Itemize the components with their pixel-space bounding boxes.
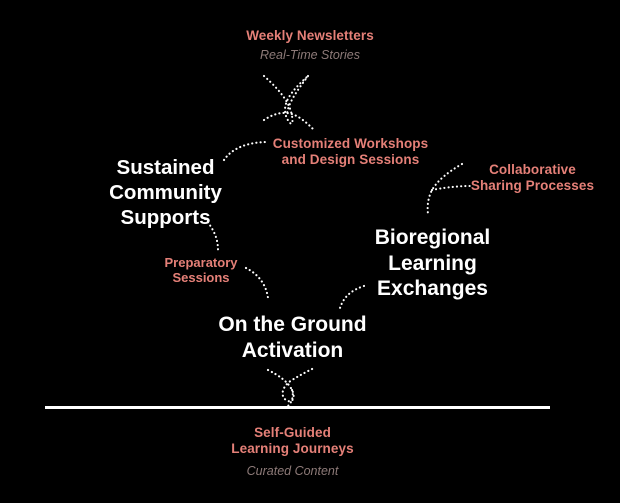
node-preparatory-sessions[interactable]: Preparatory Sessions	[140, 255, 262, 286]
connector-loop-bottom	[268, 368, 314, 401]
connector-bowtie-top-tail	[264, 113, 314, 130]
connector-loop-bottom-tail	[288, 390, 293, 406]
node-customized-workshops[interactable]: Customized Workshops and Design Sessions	[218, 136, 483, 168]
connector-bowtie-top-right	[287, 76, 308, 114]
node-on-the-ground-activation[interactable]: On the Ground Activation	[180, 312, 405, 363]
node-self-guided-learning-journeys[interactable]: Self-Guided Learning Journeys	[185, 425, 400, 457]
node-collaborative-sharing-processes[interactable]: Collaborative Sharing Processes	[450, 162, 615, 194]
node-bioregional-learning-exchanges[interactable]: Bioregional Learning Exchanges	[345, 225, 520, 302]
diagram-canvas: Weekly Newsletters Real-Time Stories Cus…	[0, 0, 620, 503]
horizontal-divider	[45, 406, 550, 409]
caption-self-guided-learning-journeys: Curated Content	[185, 464, 400, 479]
caption-weekly-newsletters: Real-Time Stories	[160, 48, 460, 63]
node-weekly-newsletters[interactable]: Weekly Newsletters	[160, 28, 460, 44]
node-sustained-community-supports[interactable]: Sustained Community Supports	[78, 155, 253, 230]
connector-bowtie-top	[264, 76, 308, 124]
